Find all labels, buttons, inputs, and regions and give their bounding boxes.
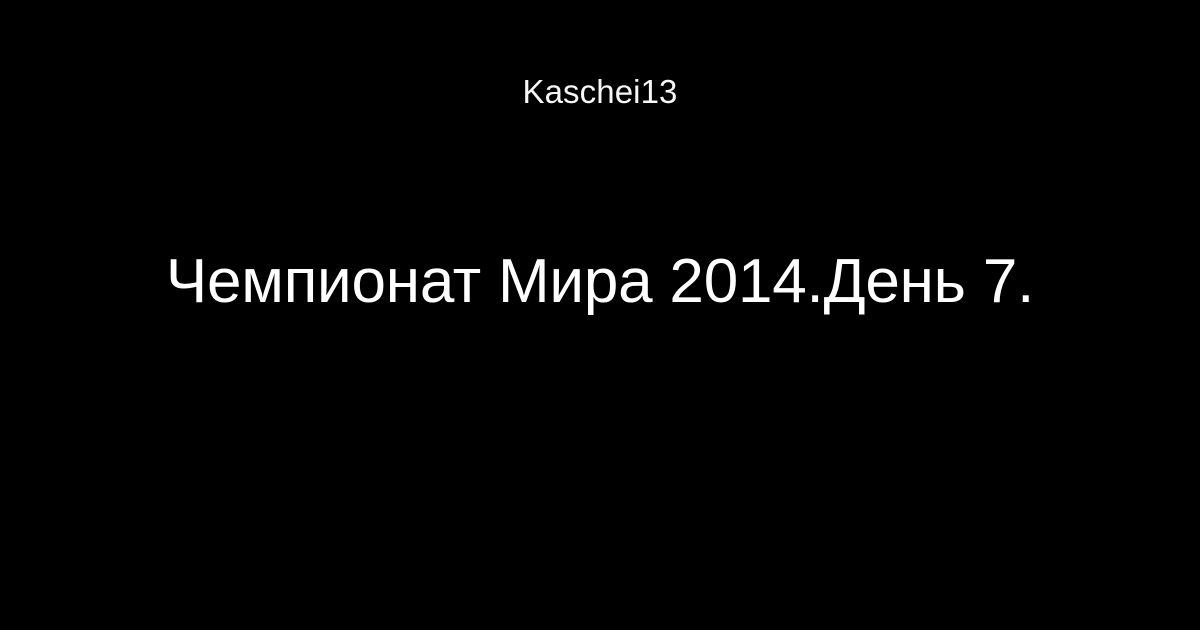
empty-body-area	[0, 350, 1200, 630]
preview-card: Kaschei13 Чемпионат Мира 2014.День 7.	[0, 0, 1200, 630]
byline-container: Kaschei13	[0, 0, 1200, 120]
title-container: Чемпионат Мира 2014.День 7.	[0, 232, 1200, 332]
post-title: Чемпионат Мира 2014.День 7.	[166, 249, 1034, 316]
author-byline: Kaschei13	[522, 75, 677, 108]
